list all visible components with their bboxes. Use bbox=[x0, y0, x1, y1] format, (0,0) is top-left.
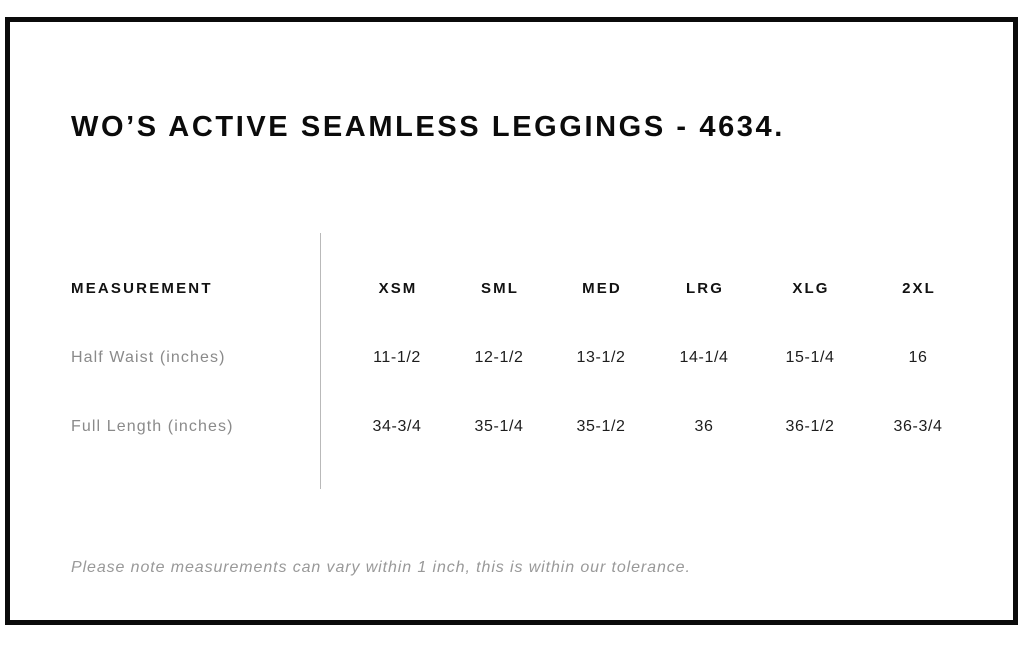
table-row: Half Waist (inches) 11-1/2 12-1/2 13-1/2… bbox=[10, 345, 1013, 371]
column-header-2xl: 2XL bbox=[858, 276, 978, 302]
table-row: Full Length (inches) 34-3/4 35-1/4 35-1/… bbox=[10, 414, 1013, 440]
chart-frame-border: WO’S ACTIVE SEAMLESS LEGGINGS - 4634. ME… bbox=[5, 17, 1018, 625]
table-header-row: MEASUREMENT XSM SML MED LRG XLG 2XL bbox=[10, 276, 1013, 302]
row-label-full-length: Full Length (inches) bbox=[71, 414, 234, 440]
page-title: WO’S ACTIVE SEAMLESS LEGGINGS - 4634. bbox=[71, 110, 785, 145]
column-header-xlg: XLG bbox=[750, 276, 870, 302]
cell-full-length-med: 35-1/2 bbox=[541, 414, 661, 440]
cell-half-waist-med: 13-1/2 bbox=[541, 345, 661, 371]
cell-half-waist-xlg: 15-1/4 bbox=[750, 345, 870, 371]
column-header-lrg: LRG bbox=[644, 276, 764, 302]
row-label-half-waist: Half Waist (inches) bbox=[71, 345, 226, 371]
chart-inner-area: WO’S ACTIVE SEAMLESS LEGGINGS - 4634. ME… bbox=[10, 22, 1013, 620]
tolerance-footnote: Please note measurements can vary within… bbox=[71, 555, 691, 581]
size-chart-image: WO’S ACTIVE SEAMLESS LEGGINGS - 4634. ME… bbox=[0, 0, 1024, 661]
cell-full-length-xlg: 36-1/2 bbox=[750, 414, 870, 440]
cell-full-length-2xl: 36-3/4 bbox=[858, 414, 978, 440]
column-header-med: MED bbox=[541, 276, 661, 302]
cell-half-waist-2xl: 16 bbox=[858, 345, 978, 371]
cell-half-waist-lrg: 14-1/4 bbox=[644, 345, 764, 371]
column-header-measurement: MEASUREMENT bbox=[71, 276, 213, 302]
cell-full-length-lrg: 36 bbox=[644, 414, 764, 440]
